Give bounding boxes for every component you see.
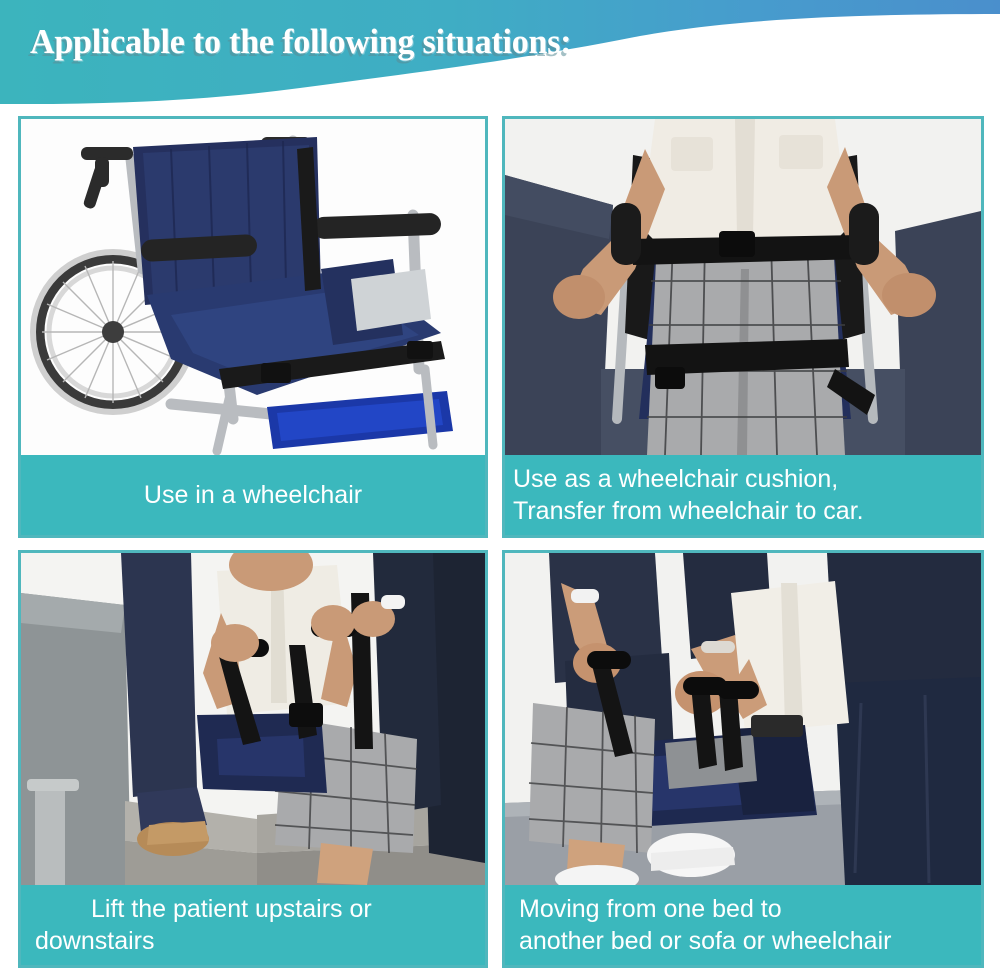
- photo-patient-carried-up-stairs-by-two-caregivers: [21, 553, 485, 885]
- panel-stairs[interactable]: Lift the patient upstairs or downstairs: [18, 550, 488, 968]
- caption-line: Moving from one bed to: [519, 893, 967, 926]
- caption-line: Use in a wheelchair: [144, 479, 362, 512]
- caption-bed-transfer: Moving from one bed to another bed or so…: [505, 885, 981, 965]
- panel-cushion-transfer[interactable]: Use as a wheelchair cushion, Transfer fr…: [502, 116, 984, 538]
- caption-stairs: Lift the patient upstairs or downstairs: [21, 885, 485, 965]
- photo-wheelchair-with-navy-cushion: [21, 119, 485, 455]
- header-banner: Applicable to the following situations:: [0, 0, 1000, 104]
- caption-line: another bed or sofa or wheelchair: [519, 925, 967, 958]
- caption-cushion-transfer: Use as a wheelchair cushion, Transfer fr…: [505, 455, 981, 535]
- panel-bed-transfer[interactable]: Moving from one bed to another bed or so…: [502, 550, 984, 968]
- caption-wheelchair: Use in a wheelchair: [21, 455, 485, 535]
- photo-patient-lifted-in-sling-between-beds: [505, 553, 981, 885]
- caption-line: Use as a wheelchair cushion,: [513, 463, 967, 496]
- caption-line: Transfer from wheelchair to car.: [513, 495, 967, 528]
- situations-grid: Use in a wheelchair: [18, 116, 984, 968]
- panel-wheelchair[interactable]: Use in a wheelchair: [18, 116, 488, 538]
- photo-person-seated-in-wheelchair-with-transfer-belt: [505, 119, 981, 455]
- grid-row-1: Use in a wheelchair: [18, 116, 984, 538]
- grid-row-2: Lift the patient upstairs or downstairs: [18, 550, 984, 968]
- page-title: Applicable to the following situations:: [30, 22, 571, 62]
- caption-line: downstairs: [35, 925, 471, 958]
- caption-line: Lift the patient upstairs or: [35, 893, 471, 926]
